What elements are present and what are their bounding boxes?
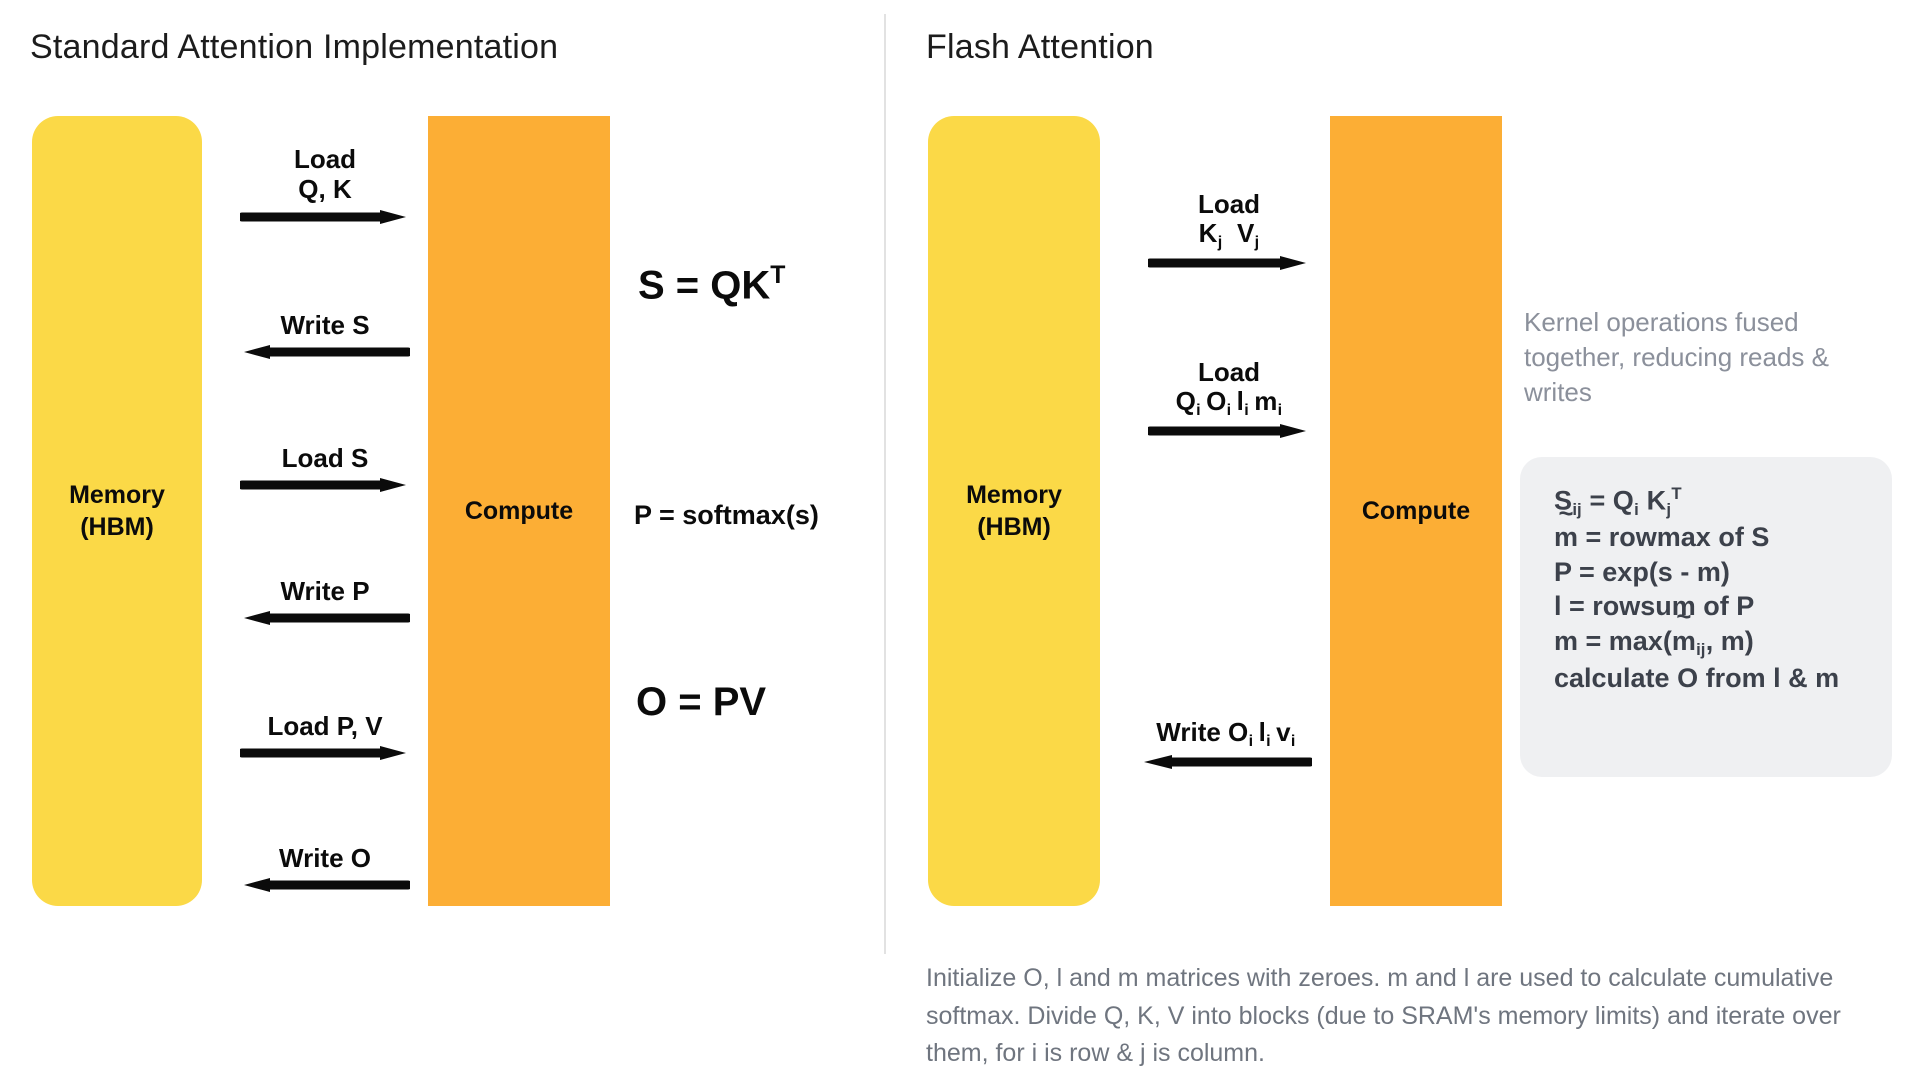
panel-divider bbox=[884, 14, 886, 954]
arrow-load-kj-vj-line2: Kj Vj bbox=[1198, 219, 1260, 251]
arrow-write-oi-line: Write Oi li vi bbox=[1156, 718, 1295, 750]
arrow-write-s-label: Write S bbox=[280, 311, 369, 345]
left-compute-block: Compute bbox=[428, 116, 610, 906]
formula-p-equals-softmax: P = softmax(s) bbox=[634, 500, 819, 531]
arrow-left-icon bbox=[240, 878, 410, 892]
formula-s-base: S = QK bbox=[638, 263, 770, 307]
arrow-right-icon bbox=[240, 746, 410, 760]
arrow-load-qi-line1: Load bbox=[1176, 358, 1283, 387]
arrow-write-oi-li-vi-label: Write Oi li vi bbox=[1156, 718, 1295, 755]
left-panel-title: Standard Attention Implementation bbox=[30, 28, 558, 67]
diagram-canvas: Standard Attention Implementation Memory… bbox=[0, 0, 1920, 1080]
arrow-left-icon bbox=[240, 345, 410, 359]
arrow-load-pv: Load P, V bbox=[240, 746, 410, 760]
arrow-load-qi-line2: Qi Oi li mi bbox=[1176, 387, 1283, 419]
arrow-load-s: Load S bbox=[240, 478, 410, 492]
formula-o-equals-pv: O = PV bbox=[636, 680, 766, 725]
arrow-left-icon bbox=[1140, 755, 1312, 769]
arrow-load-pv-label: Load P, V bbox=[267, 712, 382, 746]
tilde-accent: ~ bbox=[1559, 502, 1574, 528]
arrow-write-s: Write S bbox=[240, 345, 410, 359]
arrow-load-kj-vj: Load Kj Vj bbox=[1148, 256, 1310, 270]
arrow-right-icon bbox=[240, 478, 410, 492]
algo-line-rowsum: l = rowsum of P bbox=[1554, 589, 1862, 624]
algo-line-calculate-o: calculate O from l & m bbox=[1554, 661, 1862, 696]
arrow-load-qk-label: Load Q, K bbox=[294, 144, 356, 210]
arrow-load-qk: Load Q, K bbox=[240, 210, 410, 224]
arrow-write-oi-li-vi: Write Oi li vi bbox=[1140, 755, 1312, 769]
arrow-right-icon bbox=[1148, 424, 1310, 438]
algo-line-sij: Sij = Qi KjT bbox=[1554, 483, 1862, 520]
tilde-accent: ~ bbox=[1676, 605, 1691, 631]
arrow-write-p: Write P bbox=[240, 611, 410, 625]
left-memory-block-label: Memory (HBM) bbox=[69, 479, 165, 543]
arrow-load-kj-vj-label: Load Kj Vj bbox=[1198, 190, 1260, 256]
arrow-write-p-label: Write P bbox=[280, 577, 369, 611]
arrow-right-icon bbox=[1148, 256, 1310, 270]
algo-line-rowmax: ~m = rowmax of S bbox=[1554, 520, 1862, 555]
right-compute-block: Compute bbox=[1330, 116, 1502, 906]
arrow-right-icon bbox=[240, 210, 410, 224]
algo-line-p-exp: P = exp(s - m) bbox=[1554, 555, 1862, 590]
bottom-caption: Initialize O, l and m matrices with zero… bbox=[926, 960, 1906, 1073]
arrow-write-o-label: Write O bbox=[279, 844, 371, 878]
arrow-left-icon bbox=[240, 611, 410, 625]
arrow-load-qi-oi-li-mi: Load Qi Oi li mi bbox=[1148, 424, 1310, 438]
right-compute-block-label: Compute bbox=[1362, 495, 1470, 527]
left-memory-block: Memory (HBM) bbox=[32, 116, 202, 906]
arrow-load-s-label: Load S bbox=[282, 444, 369, 478]
algorithm-box: Sij = Qi KjT ~m = rowmax of S P = exp(s … bbox=[1520, 457, 1892, 777]
arrow-load-kj-vj-line1: Load bbox=[1198, 190, 1260, 219]
arrow-write-o: Write O bbox=[240, 878, 410, 892]
left-compute-block-label: Compute bbox=[465, 495, 573, 527]
right-memory-block-label: Memory (HBM) bbox=[966, 479, 1062, 543]
arrow-load-qi-oi-li-mi-label: Load Qi Oi li mi bbox=[1176, 358, 1283, 424]
right-memory-block: Memory (HBM) bbox=[928, 116, 1100, 906]
formula-s-superscript: T bbox=[770, 262, 785, 289]
right-panel-title: Flash Attention bbox=[926, 28, 1154, 67]
formula-s-equals-qkt: S = QKT bbox=[638, 262, 785, 308]
kernel-fusion-note: Kernel operations fused together, reduci… bbox=[1524, 305, 1884, 410]
algo-line-m-max: m = max(~mij, m) bbox=[1554, 624, 1862, 661]
